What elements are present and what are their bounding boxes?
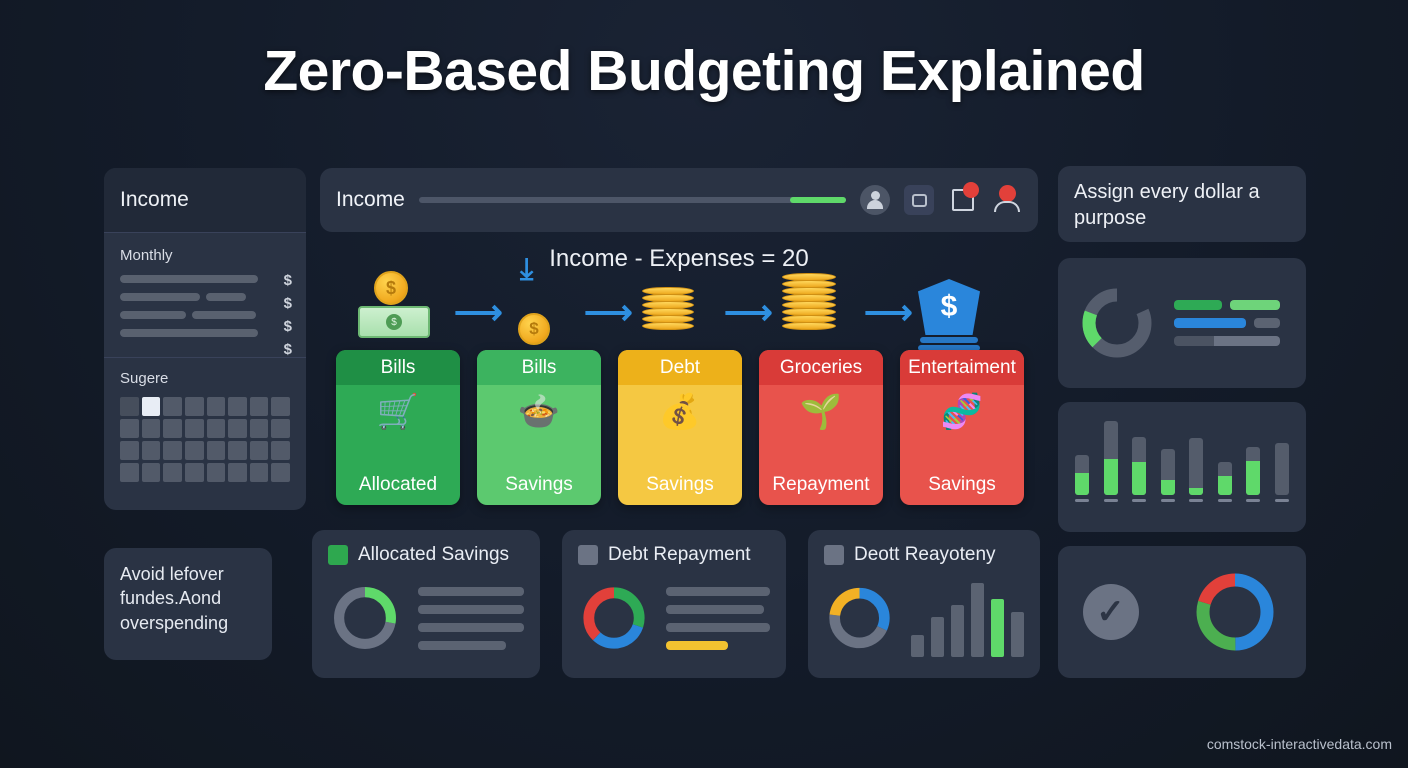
skeleton-lines <box>418 587 524 650</box>
bar <box>1132 437 1146 495</box>
skeleton-line <box>120 311 186 319</box>
currency-mark: $ <box>284 295 292 312</box>
category-card-body: 🌱Repayment <box>759 385 883 505</box>
legend-bar <box>1174 318 1246 328</box>
bar-tick <box>1246 499 1260 502</box>
bar <box>951 605 964 657</box>
income-toolbar: Income <box>320 168 1038 232</box>
currency-mark: $ <box>284 318 292 335</box>
category-card[interactable]: Groceries🌱Repayment <box>759 350 883 505</box>
calendar-cell[interactable] <box>207 397 226 416</box>
arrow-down-icon: ⤓ <box>520 253 533 287</box>
tip-card-right: Assign every dollar a purpose <box>1058 166 1306 242</box>
legend-bar <box>1174 300 1222 310</box>
calendar-cell[interactable] <box>250 419 269 438</box>
skeleton-line <box>192 311 256 319</box>
infographic-canvas: Zero-Based Budgeting Explained Income Mo… <box>0 0 1408 768</box>
category-card-body: 💰Savings <box>618 385 742 505</box>
legend-bar <box>1174 336 1214 346</box>
bar <box>1161 449 1175 495</box>
legend-row <box>1174 318 1288 328</box>
bar-tick <box>1275 499 1289 502</box>
category-card-footer: Savings <box>928 474 996 496</box>
donut-chart-debt <box>578 578 650 658</box>
page-title: Zero-Based Budgeting Explained <box>0 38 1408 104</box>
bar-chart <box>1074 416 1290 502</box>
skeleton-row: $ <box>120 329 290 337</box>
bottom-card-header: Debt Repayment <box>578 544 770 566</box>
arrow-right-icon: ⟶ <box>864 293 913 333</box>
bar-fill <box>1075 473 1089 495</box>
category-card-body: 🧬Savings <box>900 385 1024 505</box>
skeleton-lines <box>666 587 770 650</box>
monthly-section: Monthly $ $ $ $ <box>104 233 306 357</box>
bar <box>1189 438 1203 495</box>
skeleton-row: $ <box>120 275 290 283</box>
frame-inner <box>912 194 927 207</box>
falling-coin-icon: $ <box>518 313 550 345</box>
bar <box>1218 462 1232 495</box>
calendar-cell[interactable] <box>228 397 247 416</box>
money-shield-icon: $ <box>918 279 980 351</box>
summary-card: ✓ <box>1058 546 1306 678</box>
bar-tick <box>1218 499 1232 502</box>
bottom-card-header: Deott Reayoteny <box>824 544 1024 566</box>
legend-row <box>1174 300 1288 310</box>
bar <box>931 617 944 657</box>
bar-fill <box>1189 488 1203 495</box>
legend-bar <box>1254 318 1280 328</box>
calendar-cell[interactable] <box>163 419 182 438</box>
calendar-cell[interactable] <box>142 397 161 416</box>
plant-icon: 🌱 <box>800 395 842 429</box>
stats-card <box>1058 258 1306 388</box>
progress-fill <box>790 197 846 203</box>
category-card-header: Groceries <box>759 350 883 385</box>
bottom-card-header: Allocated Savings <box>328 544 524 566</box>
money-bucket-icon: 🧬 <box>941 395 983 429</box>
calendar-cell[interactable] <box>185 463 204 482</box>
calendar-cell[interactable] <box>271 419 290 438</box>
category-card[interactable]: Bills🍲Savings <box>477 350 601 505</box>
legend-swatch <box>824 545 844 565</box>
skeleton-line <box>206 293 246 301</box>
tip-card-left: Avoid lefover fundes.Aond overspending <box>104 548 272 660</box>
check-glyph: ✓ <box>1096 595 1125 629</box>
dollar-bill-icon: $ <box>358 306 430 338</box>
skeleton-line <box>120 275 258 283</box>
person-body <box>994 201 1020 212</box>
sugere-section: Sugere <box>104 358 306 496</box>
skeleton-line <box>418 587 524 596</box>
bar <box>971 583 984 657</box>
calendar-cell[interactable] <box>120 397 139 416</box>
bar-fill <box>1104 459 1118 495</box>
bottom-card-title: Debt Repayment <box>608 544 751 566</box>
calendar-cell[interactable] <box>163 397 182 416</box>
bar-chart-card <box>1058 402 1306 532</box>
dollar-coin-icon: 💰 <box>659 395 701 429</box>
arrow-right-icon: ⟶ <box>724 293 773 333</box>
coin-stack-icon <box>642 287 694 329</box>
income-sidebar-panel: Income Monthly $ $ $ $ <box>104 168 306 510</box>
bottom-card-title: Deott Reayoteny <box>854 544 996 566</box>
bar-column <box>1188 438 1204 502</box>
bowl-icon: 🍲 <box>518 395 560 429</box>
category-card-header: Entertaiment <box>900 350 1024 385</box>
calendar-cell[interactable] <box>207 441 226 460</box>
skeleton-line <box>418 623 524 632</box>
bottom-card-debt-repayment: Debt Repayment <box>562 530 786 678</box>
calendar-cell[interactable] <box>185 419 204 438</box>
bar-tick <box>1189 499 1203 502</box>
calendar-cell[interactable] <box>250 441 269 460</box>
skeleton-line <box>418 641 506 650</box>
bottom-card-body <box>824 578 1024 658</box>
basket-icon: 🛒 <box>377 395 419 429</box>
calendar-cell[interactable] <box>142 463 161 482</box>
bar-column <box>1274 443 1290 502</box>
skeleton-line <box>418 605 524 614</box>
bar-fill <box>1161 480 1175 495</box>
bar <box>911 635 924 657</box>
bar <box>1275 443 1289 495</box>
calendar-cell[interactable] <box>142 441 161 460</box>
bar <box>1011 612 1024 657</box>
calendar-cell[interactable] <box>163 463 182 482</box>
category-card-body: 🍲Savings <box>477 385 601 505</box>
legend-bar <box>1214 336 1280 346</box>
bottom-card-deott-reayoteny: Deott Reayoteny <box>808 530 1040 678</box>
donut-chart-allocated <box>328 578 402 658</box>
skeleton-row: $ <box>120 293 290 301</box>
category-card-body: 🛒Allocated <box>336 385 460 505</box>
skeleton-row: $ <box>120 311 290 319</box>
calendar-cell[interactable] <box>271 463 290 482</box>
avatar-head <box>871 191 880 200</box>
calendar-cell[interactable] <box>250 397 269 416</box>
bar-column <box>1103 421 1119 502</box>
donut-chart-summary <box>1188 565 1282 659</box>
calendar-cell[interactable] <box>185 397 204 416</box>
check-circle-icon: ✓ <box>1083 584 1139 640</box>
legend-bar <box>1230 300 1280 310</box>
skeleton-line <box>666 623 770 632</box>
bar-highlight <box>991 599 1004 657</box>
category-card-footer: Savings <box>505 474 573 496</box>
category-card-header: Bills <box>336 350 460 385</box>
category-card-header: Bills <box>477 350 601 385</box>
category-card-footer: Savings <box>646 474 714 496</box>
legend-swatch <box>328 545 348 565</box>
stat-legend-bars <box>1174 300 1288 346</box>
bottom-card-body <box>578 578 770 658</box>
toolbar-title: Income <box>336 188 405 212</box>
footer-watermark: comstock-interactivedata.com <box>1207 736 1392 752</box>
bottom-card-title: Allocated Savings <box>358 544 509 566</box>
calendar-cell[interactable] <box>120 441 139 460</box>
calendar-cell[interactable] <box>228 419 247 438</box>
progress-slider[interactable] <box>419 197 846 203</box>
category-card-header: Debt <box>618 350 742 385</box>
calendar-cell[interactable] <box>207 463 226 482</box>
calendar-cell[interactable] <box>271 397 290 416</box>
calendar-cell[interactable] <box>142 419 161 438</box>
calendar-cell[interactable] <box>228 441 247 460</box>
donut-chart-deott <box>824 578 895 658</box>
legend-row <box>1174 336 1288 346</box>
mini-bar-chart <box>911 579 1024 657</box>
calendar-cell[interactable] <box>163 441 182 460</box>
category-card-footer: Allocated <box>359 474 437 496</box>
bar-fill <box>1218 476 1232 495</box>
gold-coin-icon: $ <box>374 271 408 305</box>
bar-fill <box>1246 461 1260 495</box>
calendar-cell[interactable] <box>228 463 247 482</box>
frame-icon[interactable] <box>904 185 934 215</box>
bottom-card-body <box>328 578 524 658</box>
tip-card-left-text: Avoid lefover fundes.Aond overspending <box>120 562 256 635</box>
bar <box>1246 447 1260 495</box>
notification-badge <box>963 182 979 198</box>
income-panel-title: Income <box>120 188 189 212</box>
skeleton-line-highlight <box>666 641 728 650</box>
arrow-right-icon: ⟶ <box>584 293 633 333</box>
sugere-label: Sugere <box>120 370 290 387</box>
bar <box>1075 455 1089 495</box>
calendar-cell[interactable] <box>120 463 139 482</box>
toolbar-icon-group <box>860 185 1022 215</box>
calendar-grid[interactable] <box>120 397 290 482</box>
bottom-card-allocated-savings: Allocated Savings <box>312 530 540 678</box>
person-head <box>999 185 1016 202</box>
calendar-cell[interactable] <box>271 441 290 460</box>
skeleton-line <box>120 293 200 301</box>
bar-column <box>1131 437 1147 502</box>
avatar-body <box>867 200 883 209</box>
skeleton-line <box>666 587 770 596</box>
arrow-right-icon: ⟶ <box>454 293 503 333</box>
skeleton-line <box>666 605 764 614</box>
bar-tick <box>1075 499 1089 502</box>
coin-stack-tall-icon <box>782 273 836 329</box>
category-card[interactable]: Bills🛒Allocated <box>336 350 460 505</box>
category-card-footer: Repayment <box>772 474 869 496</box>
monthly-label: Monthly <box>120 247 290 264</box>
currency-mark: $ <box>284 272 292 289</box>
person-alert-icon[interactable] <box>992 185 1022 215</box>
bar-column <box>1160 449 1176 502</box>
money-flow-row: $ $ ⟶ ⤓ $ ⟶ ⟶ ⟶ $ <box>330 265 1030 355</box>
bar-tick <box>1161 499 1175 502</box>
currency-mark: $ <box>284 341 292 358</box>
note-badge-icon[interactable] <box>948 185 978 215</box>
category-card[interactable]: Debt💰Savings <box>618 350 742 505</box>
calendar-cell[interactable] <box>250 463 269 482</box>
calendar-cell[interactable] <box>120 419 139 438</box>
donut-chart-assign <box>1076 282 1158 364</box>
calendar-cell[interactable] <box>207 419 226 438</box>
category-card-row: Bills🛒AllocatedBills🍲SavingsDebt💰Savings… <box>336 350 1024 505</box>
income-panel-header: Income <box>104 168 306 232</box>
legend-swatch <box>578 545 598 565</box>
bar <box>1104 421 1118 495</box>
bar-tick <box>1104 499 1118 502</box>
bar-column <box>1217 462 1233 502</box>
category-card[interactable]: Entertaiment🧬Savings <box>900 350 1024 505</box>
skeleton-line <box>120 329 258 337</box>
bar-tick <box>1132 499 1146 502</box>
tip-card-right-text: Assign every dollar a purpose <box>1074 179 1290 231</box>
calendar-cell[interactable] <box>185 441 204 460</box>
user-avatar-icon[interactable] <box>860 185 890 215</box>
bar-column <box>1074 455 1090 502</box>
bar-fill <box>1132 462 1146 495</box>
bar-column <box>1245 447 1261 502</box>
